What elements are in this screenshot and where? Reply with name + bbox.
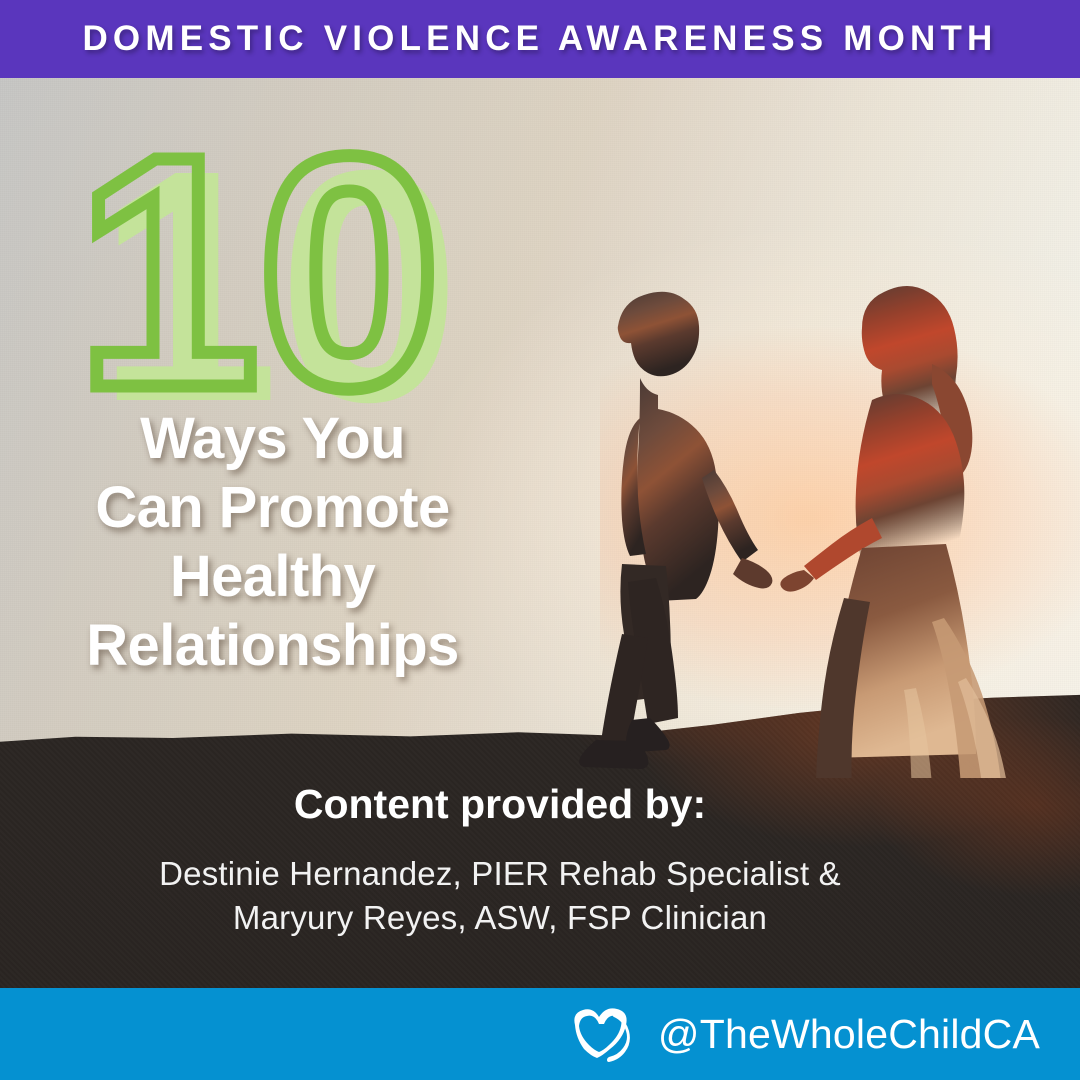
hero-number-outline: 10 [76, 108, 439, 418]
woman-silhouette [780, 286, 1012, 778]
hero-number: 10 10 [62, 108, 482, 418]
headline-line-3: Healthy [20, 542, 525, 611]
headline-line-2: Can Promote [20, 473, 525, 542]
awareness-poster: DOMESTIC VIOLENCE AWARENESS MONTH [0, 0, 1080, 1080]
credits-block: Content provided by: Destinie Hernandez,… [40, 778, 960, 940]
footer-bar: @TheWholeChildCA [0, 988, 1080, 1080]
headline: Ways You Can Promote Healthy Relationshi… [20, 404, 525, 680]
headline-line-1: Ways You [20, 404, 525, 473]
awareness-banner: DOMESTIC VIOLENCE AWARENESS MONTH [0, 0, 1080, 78]
headline-line-4: Relationships [20, 611, 525, 680]
social-handle: @TheWholeChildCA [658, 1011, 1040, 1058]
credits-names: Destinie Hernandez, PIER Rehab Specialis… [40, 852, 960, 940]
banner-title: DOMESTIC VIOLENCE AWARENESS MONTH [82, 19, 997, 59]
credit-name-1: Destinie Hernandez, PIER Rehab Specialis… [40, 852, 960, 896]
credit-name-2: Maryury Reyes, ASW, FSP Clinician [40, 896, 960, 940]
heart-swirl-icon [566, 1005, 636, 1063]
man-silhouette [579, 292, 772, 769]
credits-title: Content provided by: [40, 778, 960, 830]
hero-number-svg: 10 10 [62, 108, 482, 418]
footer-content: @TheWholeChildCA [566, 1005, 1040, 1063]
